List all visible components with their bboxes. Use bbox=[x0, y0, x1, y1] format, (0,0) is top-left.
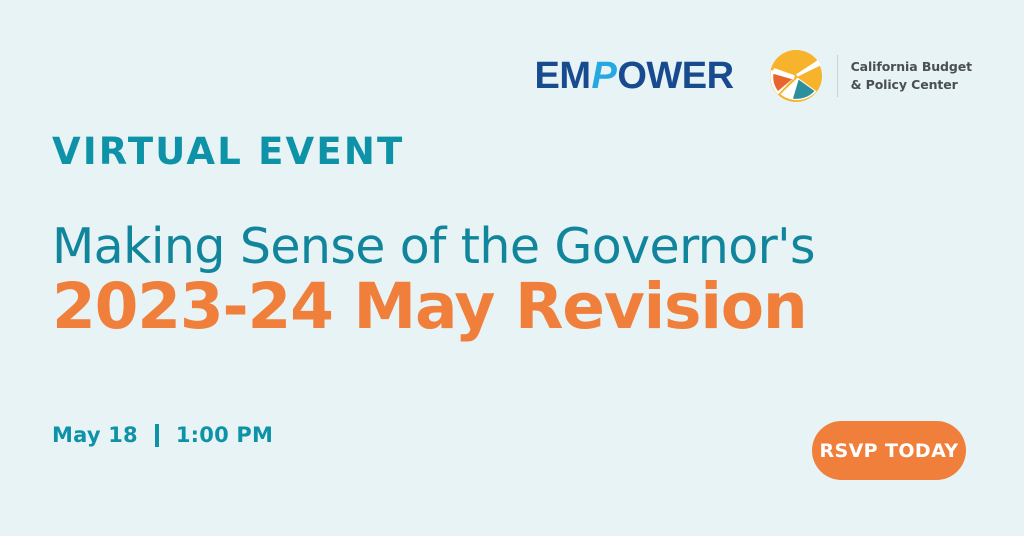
datetime-separator bbox=[155, 424, 159, 447]
event-type-eyebrow: VIRTUAL EVENT bbox=[52, 133, 404, 170]
empower-text-ower: OWER bbox=[617, 57, 733, 95]
california-budget-policy-center-logo: California Budget & Policy Center bbox=[768, 48, 972, 104]
headline-secondary: 2023-24 May Revision bbox=[52, 274, 952, 340]
organization-name: California Budget & Policy Center bbox=[851, 58, 972, 94]
event-time: 1:00 PM bbox=[176, 425, 273, 446]
empower-text-p: P bbox=[591, 57, 618, 95]
empower-text-em: EM bbox=[535, 57, 591, 95]
header-logo-lockup: EMPOWER California Budget & Policy Cente… bbox=[535, 48, 973, 104]
event-banner: EMPOWER California Budget & Policy Cente… bbox=[0, 0, 1024, 536]
pie-chart-icon bbox=[768, 48, 824, 104]
rsvp-today-button[interactable]: RSVP TODAY bbox=[812, 421, 966, 480]
headline-primary: Making Sense of the Governor's bbox=[52, 222, 952, 272]
event-date: May 18 bbox=[52, 425, 138, 446]
logo-divider bbox=[837, 55, 838, 97]
headline-block: Making Sense of the Governor's 2023-24 M… bbox=[52, 222, 952, 340]
empower-wordmark: EMPOWER bbox=[535, 57, 734, 95]
event-datetime: May 18 1:00 PM bbox=[52, 424, 273, 447]
